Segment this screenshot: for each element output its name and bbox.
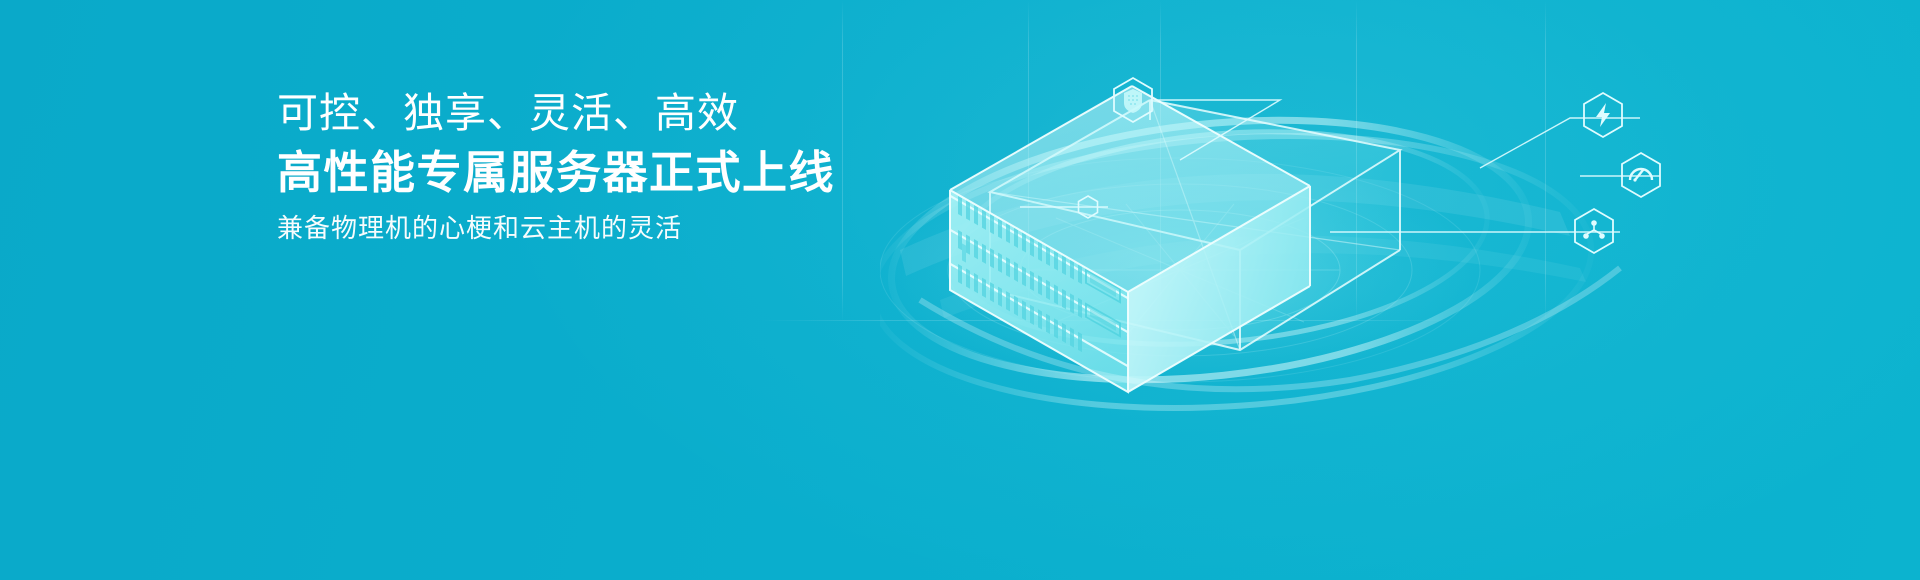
server-illustration [880, 0, 1920, 420]
gauge-icon [1622, 153, 1660, 197]
hero-banner: 可控、独享、灵活、高效 高性能专属服务器正式上线 兼备物理机的心梗和云主机的灵活 [0, 0, 1920, 580]
vent-slats [962, 243, 966, 262]
bolt-icon [1584, 93, 1622, 137]
